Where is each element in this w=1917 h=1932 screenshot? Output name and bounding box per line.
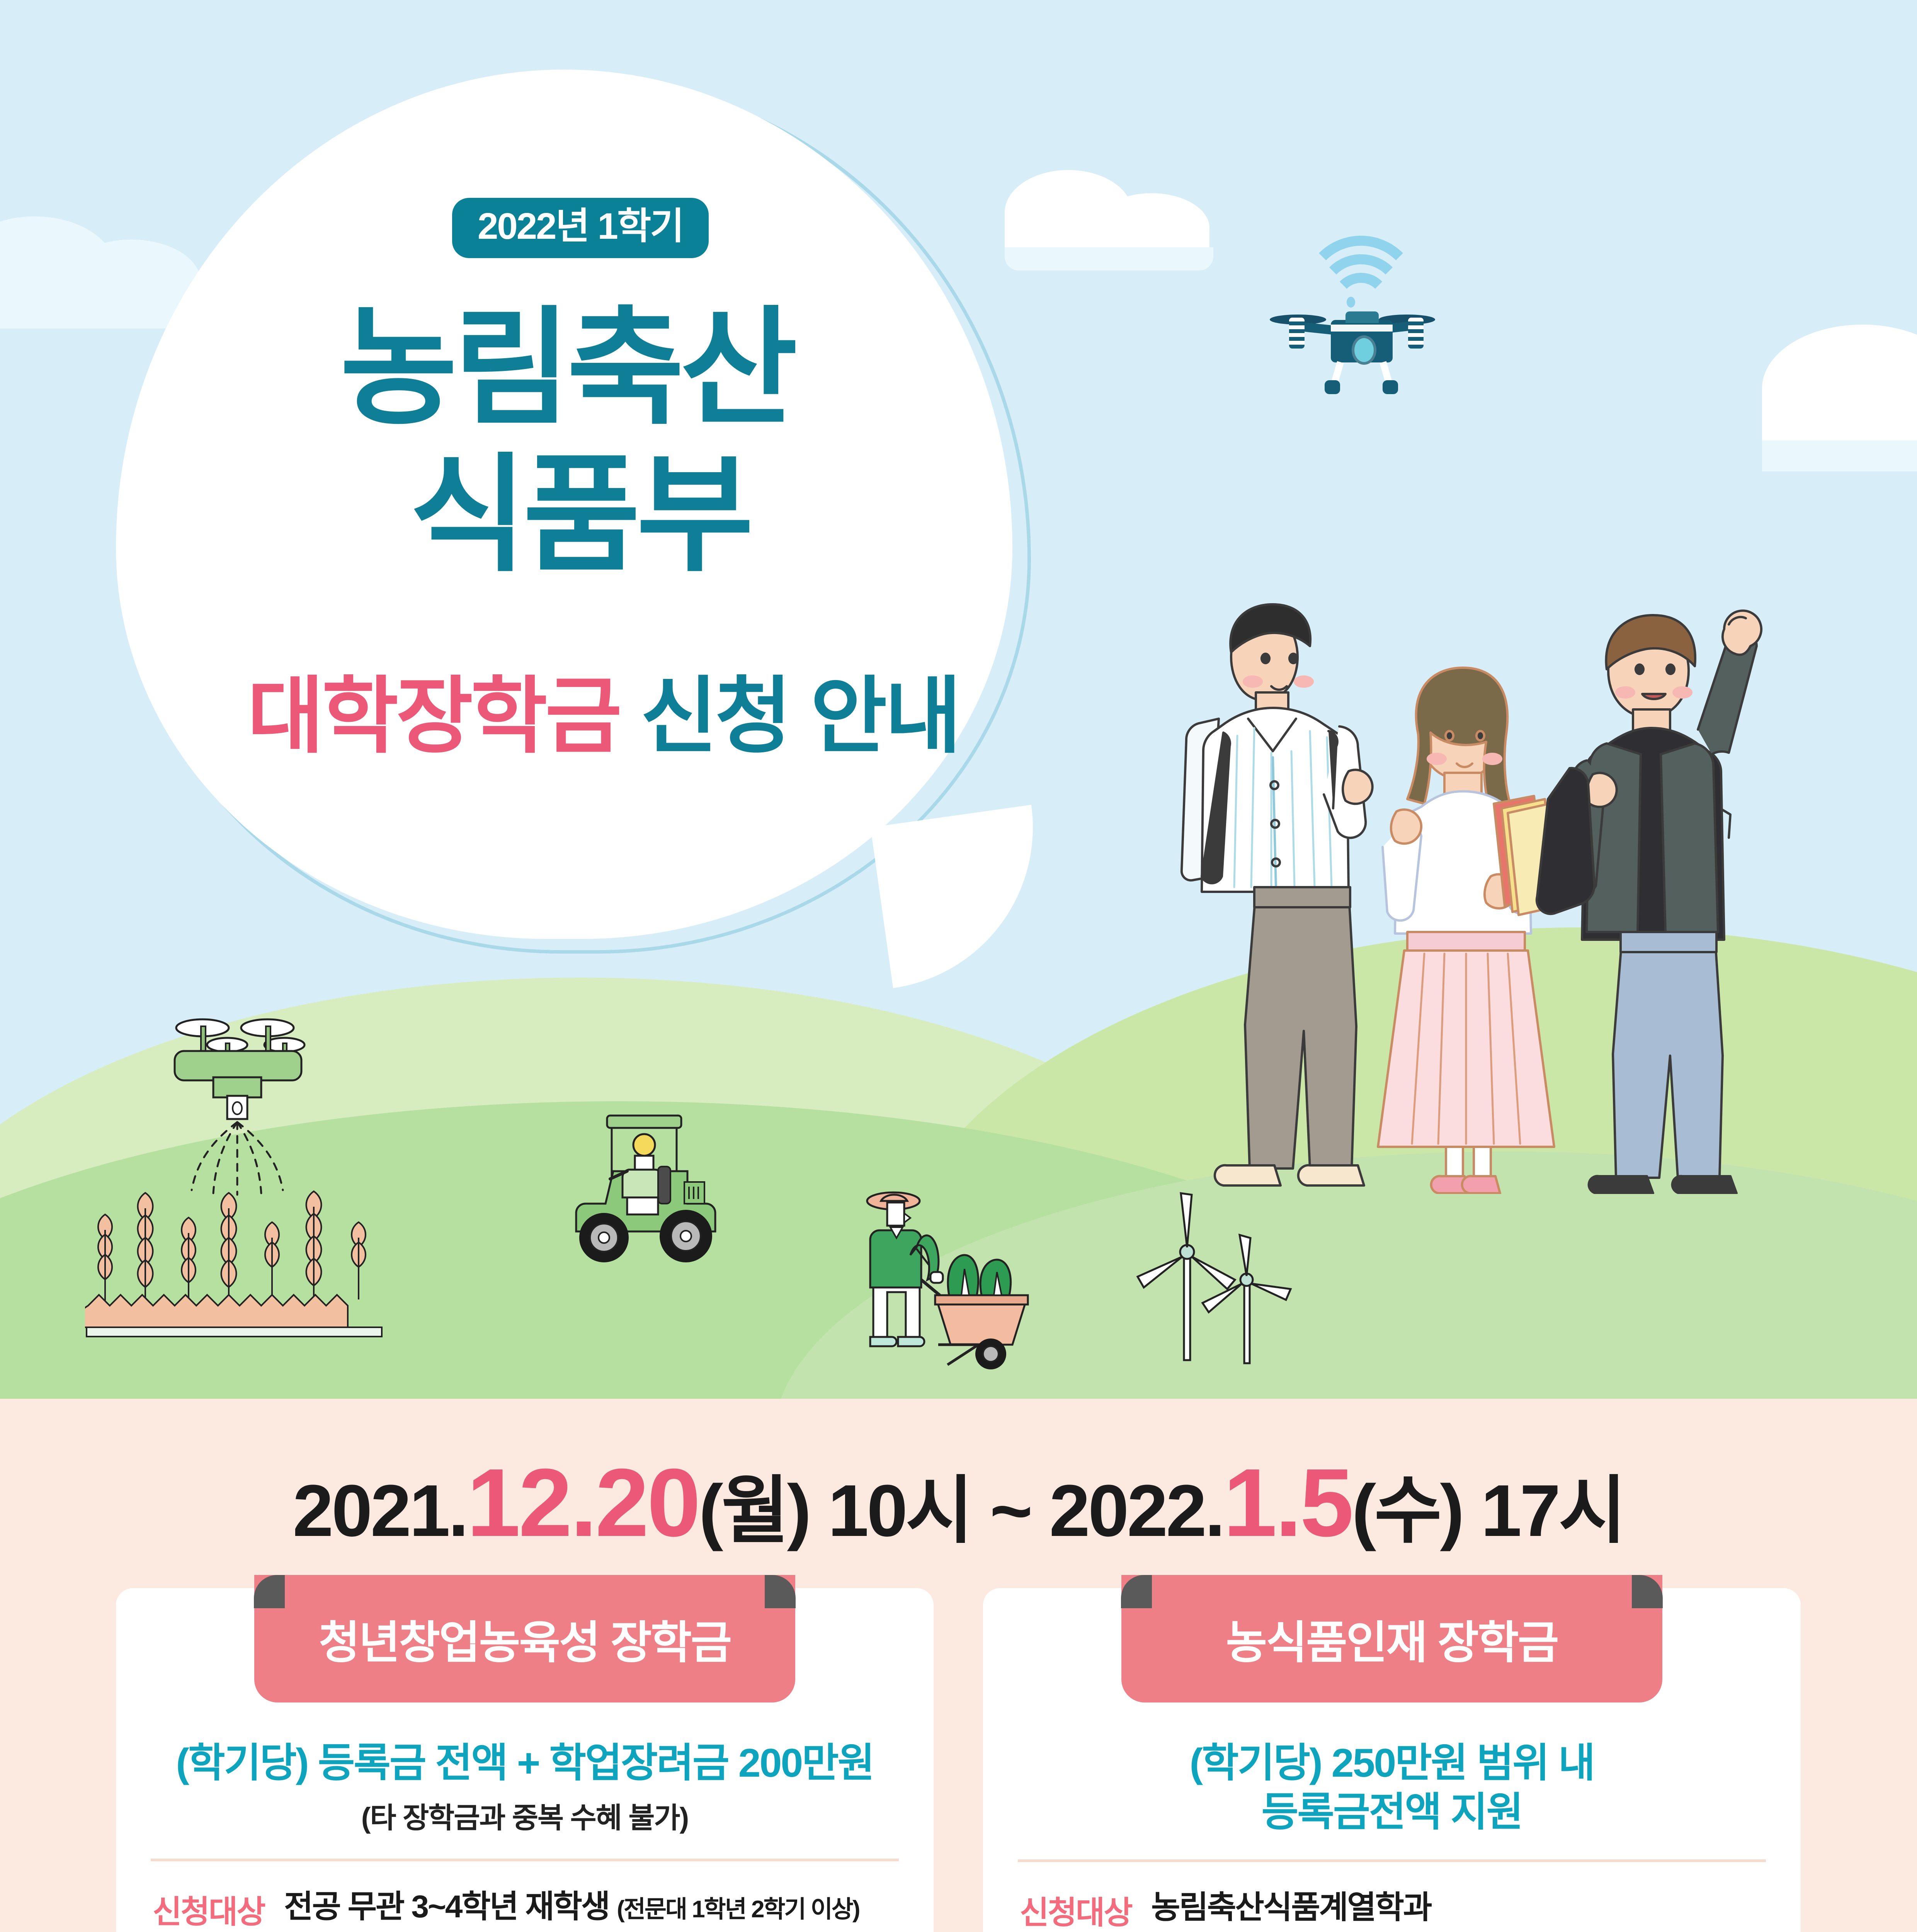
period-year-start: 2021. bbox=[293, 1470, 466, 1552]
drone-icon bbox=[1237, 232, 1476, 394]
card-divider bbox=[151, 1859, 899, 1861]
card-divider bbox=[1018, 1859, 1766, 1862]
poster-subtitle: 대학장학금 신청 안내 bbox=[247, 674, 959, 758]
three-students-illustration bbox=[1132, 464, 1866, 1194]
row-body: 농림축산식품계열학과 1학년 2학기~2학년 2학기 재학생 (전문대 제외) bbox=[1151, 1885, 1764, 1932]
subtitle-rest: 신청 안내 bbox=[620, 669, 959, 763]
wheat-field-icon bbox=[85, 1188, 433, 1358]
row-text-2: 1학년 2학기~2학년 2학기 재학생 (전문대 제외) bbox=[1151, 1930, 1764, 1932]
drone-foot-left bbox=[1325, 380, 1340, 394]
card-amount: (학기당) 등록금 전액 + 학업장려금 200만원 bbox=[116, 1739, 934, 1788]
subtitle-highlight: 대학장학금 bbox=[247, 669, 620, 763]
drone-motor-right bbox=[1408, 318, 1424, 349]
row-text: 농림축산식품계열학과 bbox=[1151, 1885, 1764, 1930]
tractor-icon bbox=[562, 1111, 744, 1277]
card-row-target: 신청대상 농림축산식품계열학과 1학년 2학기~2학년 2학기 재학생 (전문대… bbox=[1020, 1885, 1764, 1932]
card-amount-note: (타 장학금과 중복 수혜 불가) bbox=[116, 1795, 934, 1836]
poster-title-line-2: 식품부 bbox=[410, 456, 750, 575]
cloud-icon bbox=[1762, 325, 1917, 452]
drone-motor-left bbox=[1289, 318, 1305, 349]
row-text: 전공 무관 3~4학년 재학생 bbox=[284, 1889, 609, 1924]
period-start-rest: (월) 10시 ~ bbox=[699, 1470, 1049, 1552]
row-label: 신청대상 bbox=[153, 1884, 284, 1932]
cloud-base bbox=[1005, 247, 1213, 270]
card-ribbon-title: 농식품인재 장학금 bbox=[1121, 1575, 1662, 1702]
card-ribbon-title: 청년창업농육성 장학금 bbox=[254, 1575, 795, 1702]
drone-camera-lens bbox=[1352, 335, 1376, 365]
drone-top-cap bbox=[1345, 311, 1379, 323]
wifi-dot-icon bbox=[1347, 297, 1355, 308]
wind-turbine-icon bbox=[1136, 1190, 1298, 1376]
scholarship-cards: 청년창업농육성 장학금 (학기당) 등록금 전액 + 학업장려금 200만원 (… bbox=[116, 1588, 1801, 1932]
hero-sky-section: 2022년 1학기 농림축산 식품부 대학장학금 신청 안내 bbox=[0, 0, 1917, 1399]
drone-foot-right bbox=[1383, 380, 1398, 394]
application-period: 2021.12.20(월) 10시 ~ 2022.1.5(수) 17시 bbox=[0, 1447, 1917, 1558]
period-end-rest: (수) 17시 bbox=[1352, 1470, 1624, 1552]
poster-title-line-1: 농림축산 bbox=[340, 309, 794, 428]
row-note: (전문대 1학년 2학기 이상) bbox=[617, 1896, 859, 1923]
period-start-date: 12.20 bbox=[467, 1449, 699, 1556]
scholarship-poster: 2022년 1학기 농림축산 식품부 대학장학금 신청 안내 2021.12.2… bbox=[0, 0, 1917, 1932]
semester-badge: 2022년 1학기 bbox=[452, 198, 709, 258]
farmer-wheelbarrow-icon bbox=[850, 1182, 1067, 1376]
row-label: 신청대상 bbox=[1020, 1885, 1151, 1932]
row-body: 전공 무관 3~4학년 재학생 (전문대 1학년 2학기 이상) bbox=[284, 1884, 897, 1932]
period-end-date: 1.5 bbox=[1223, 1449, 1352, 1556]
scholarship-card-youth-startup: 청년창업농육성 장학금 (학기당) 등록금 전액 + 학업장려금 200만원 (… bbox=[116, 1588, 934, 1932]
drone-panel bbox=[1331, 325, 1393, 332]
card-row-target: 신청대상 전공 무관 3~4학년 재학생 (전문대 1학년 2학기 이상) bbox=[153, 1884, 897, 1932]
scholarship-card-agrifood-talent: 농식품인재 장학금 (학기당) 250만원 범위 내 등록금전액 지원 신청대상… bbox=[983, 1588, 1801, 1932]
period-year-end: 2022. bbox=[1049, 1470, 1223, 1552]
card-rows: 신청대상 농림축산식품계열학과 1학년 2학기~2학년 2학기 재학생 (전문대… bbox=[983, 1862, 1801, 1932]
card-amount: (학기당) 250만원 범위 내 등록금전액 지원 bbox=[983, 1739, 1801, 1837]
speech-bubble-tail bbox=[871, 805, 1054, 988]
card-rows: 신청대상 전공 무관 3~4학년 재학생 (전문대 1학년 2학기 이상) 신청… bbox=[116, 1861, 934, 1932]
